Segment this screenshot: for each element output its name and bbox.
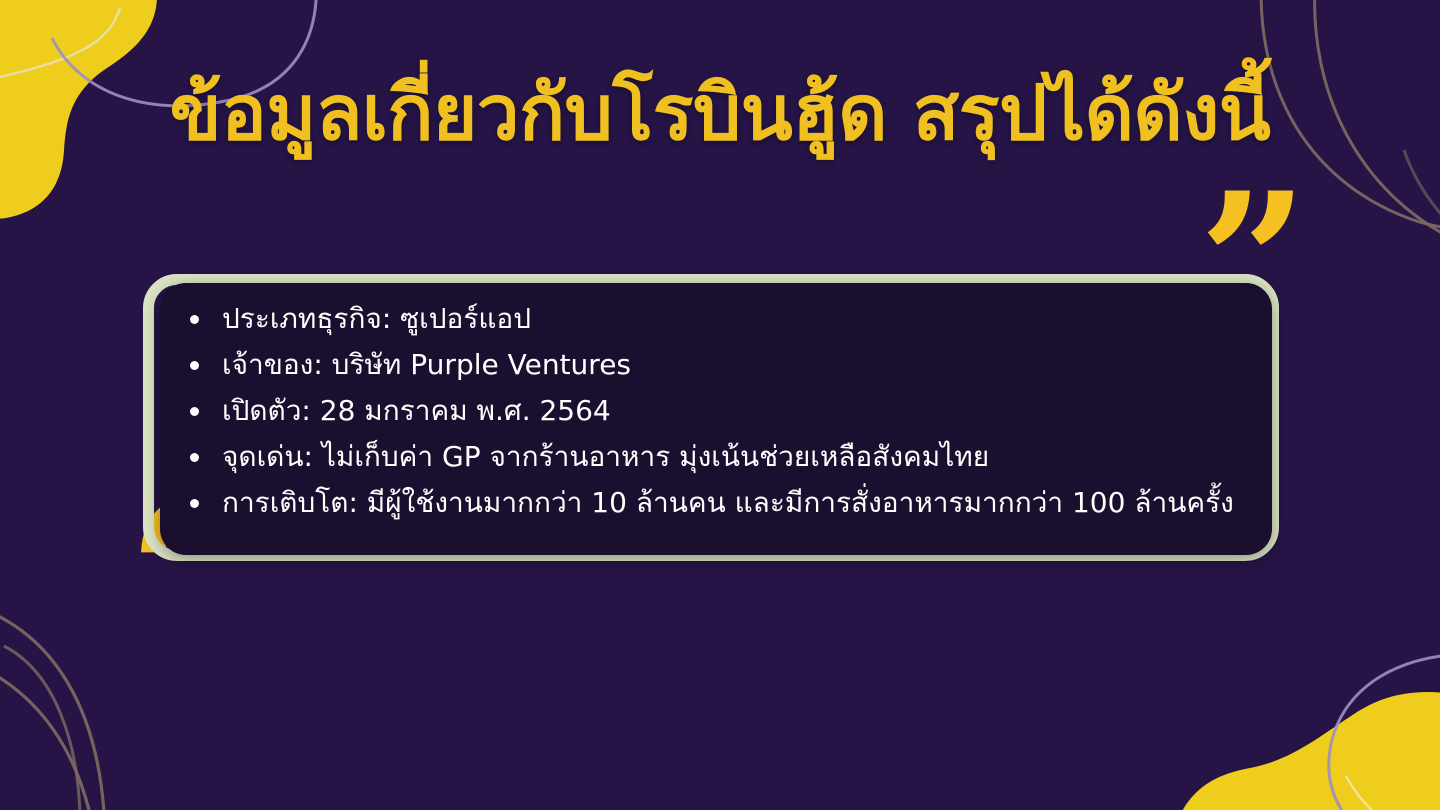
top-left-light-streak [0,8,120,82]
bullet-dot-icon [190,453,199,462]
bullet-dot-icon [190,407,199,416]
list-item: จุดเด่น: ไม่เก็บค่า GP จากร้านอาหาร มุ่ง… [180,434,1360,480]
bottom-left-tan-arc-3 [4,646,80,810]
bottom-right-purple-arc [1329,654,1440,810]
top-right-tan-arc-3 [1404,150,1440,248]
slide-canvas: ข้อมูลเกี่ยวกับโรบินฮู้ด สรุปได้ดังนี้ ”… [0,0,1440,810]
bottom-left-tan-arc-1 [0,612,104,810]
bullet-list: ประเภทธุรกิจ: ซูเปอร์แอป เจ้าของ: บริษัท… [180,296,1360,526]
list-item-label: เปิดตัว: 28 มกราคม พ.ศ. 2564 [222,394,611,427]
list-item-label: การเติบโต: มีผู้ใช้งานมากกว่า 10 ล้านคน … [222,486,1234,519]
list-item-label: เจ้าของ: บริษัท Purple Ventures [222,348,631,381]
bottom-right-yellow-blob [1168,692,1440,810]
bottom-left-tan-arc-2 [0,672,90,810]
list-item-label: ประเภทธุรกิจ: ซูเปอร์แอป [222,302,531,335]
bullet-dot-icon [190,499,199,508]
bullet-dot-icon [190,315,199,324]
list-item: ประเภทธุรกิจ: ซูเปอร์แอป [180,296,1360,342]
top-left-yellow-blob-extra [0,0,139,51]
bottom-right-light-streak [1346,776,1386,810]
list-item: เปิดตัว: 28 มกราคม พ.ศ. 2564 [180,388,1360,434]
list-item-label: จุดเด่น: ไม่เก็บค่า GP จากร้านอาหาร มุ่ง… [222,440,989,473]
bullet-dot-icon [190,361,199,370]
list-item: เจ้าของ: บริษัท Purple Ventures [180,342,1360,388]
slide-title: ข้อมูลเกี่ยวกับโรบินฮู้ด สรุปได้ดังนี้ [0,72,1440,154]
list-item: การเติบโต: มีผู้ใช้งานมากกว่า 10 ล้านคน … [180,480,1360,526]
bottom-right-yellow-blob-2 [1252,733,1440,810]
